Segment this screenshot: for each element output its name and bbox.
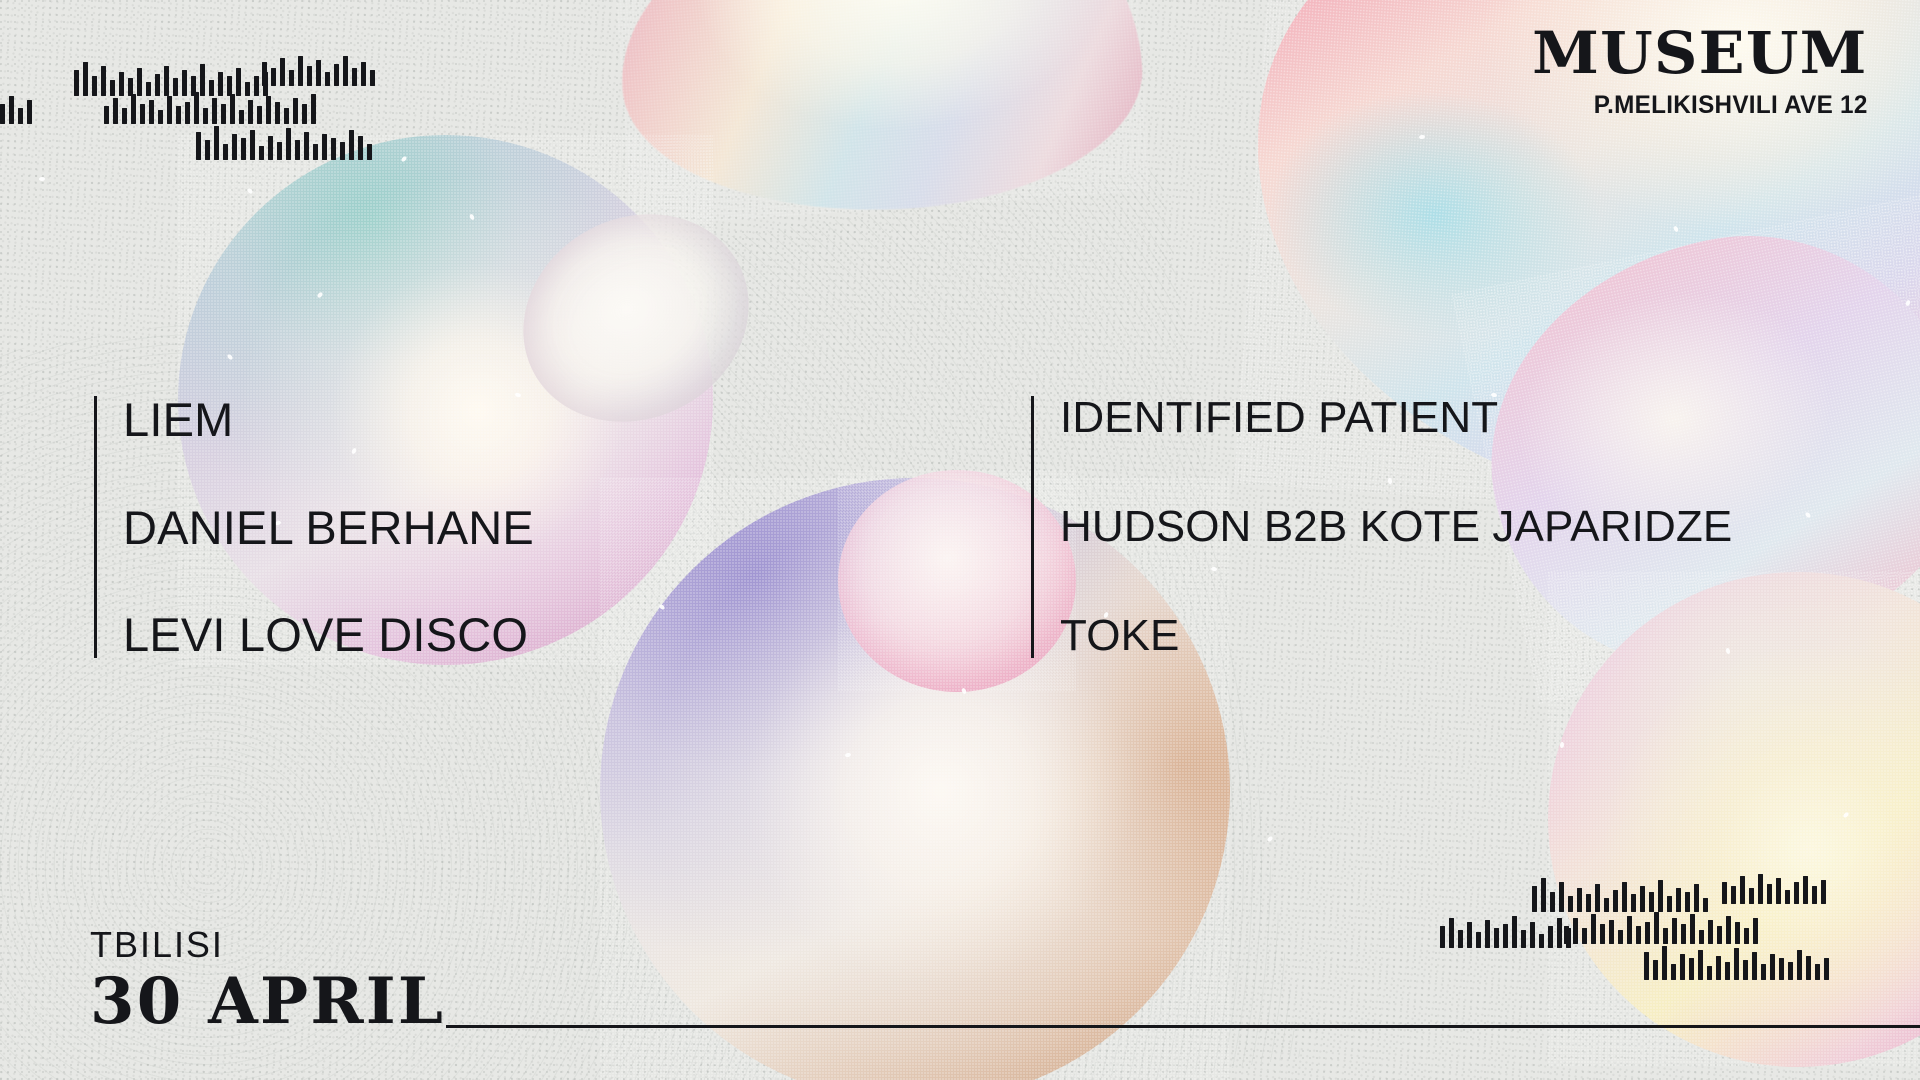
lineup-right-list: IDENTIFIED PATIENT HUDSON B2B KOTE JAPAR…: [1060, 396, 1732, 658]
waveform-bar: [1803, 876, 1808, 904]
waveform-bar: [1767, 884, 1772, 904]
waveform-bar: [1622, 882, 1627, 912]
waveform-bar: [1613, 890, 1618, 912]
speckle: [1560, 742, 1565, 748]
waveform-bar: [1658, 880, 1663, 912]
waveform-bar: [223, 144, 228, 160]
speckle: [247, 187, 254, 194]
waveform-bar: [370, 70, 375, 86]
waveform-bar: [212, 98, 217, 124]
waveform-bar: [1734, 948, 1739, 980]
event-info-block: TBILISI 30 APRIL: [90, 924, 445, 1032]
waveform-bar: [325, 72, 330, 86]
waveform-bar: [232, 134, 237, 160]
waveform-bar: [268, 136, 273, 160]
waveform-bar: [1530, 922, 1535, 948]
waveform-bar: [1591, 914, 1596, 944]
waveform-row: [0, 96, 32, 124]
waveform-bar: [1559, 882, 1564, 912]
speckle: [1266, 835, 1273, 842]
waveform-bar: [113, 98, 118, 124]
speckle: [401, 155, 408, 162]
waveform-bar: [92, 76, 97, 96]
waveform-bar: [1776, 878, 1781, 904]
waveform-bar: [1694, 884, 1699, 912]
event-date: 30 APRIL: [90, 972, 445, 1032]
waveform-bar: [239, 110, 244, 124]
waveform-bar: [185, 102, 190, 124]
waveform-bar: [1681, 924, 1686, 944]
waveform-bar: [1744, 928, 1749, 944]
waveform-bar: [1663, 928, 1668, 944]
venue-name: MUSEUM: [1532, 26, 1868, 82]
waveform-bar: [1573, 918, 1578, 944]
waveform-bar: [1671, 964, 1676, 980]
waveform-bar: [1512, 916, 1517, 948]
waveform-bar: [1761, 964, 1766, 980]
waveform-bar: [1631, 894, 1636, 912]
lineup-left-list: LIEM DANIEL BERHANE LEVI LOVE DISCO: [123, 396, 534, 658]
waveform-bar: [1752, 952, 1757, 980]
lineup-right-column: IDENTIFIED PATIENT HUDSON B2B KOTE JAPAR…: [1031, 396, 1732, 658]
waveform-bar: [1794, 882, 1799, 904]
waveform-bar: [196, 132, 201, 160]
waveform-bar: [352, 68, 357, 86]
waveform-bar: [1717, 926, 1722, 944]
waveform-bar: [266, 96, 271, 124]
waveform-bar: [1690, 914, 1695, 944]
waveform-bar: [1649, 892, 1654, 912]
waveform-bar: [1586, 894, 1591, 912]
waveform-bar: [203, 108, 208, 124]
waveform-bar: [1600, 924, 1605, 944]
waveform-bar: [1707, 966, 1712, 980]
waveform-bar: [1788, 962, 1793, 980]
waveform-bar: [1548, 926, 1553, 948]
venue-block: MUSEUM P.MELIKISHVILI AVE 12: [1545, 26, 1868, 120]
waveform-bar: [221, 104, 226, 124]
waveform-bar: [340, 142, 345, 160]
waveform-row: [1440, 916, 1571, 948]
event-city: TBILISI: [90, 924, 445, 966]
waveform-bar: [230, 94, 235, 124]
waveform-bar: [257, 106, 262, 124]
waveform-bar: [18, 108, 23, 124]
waveform-bar: [302, 104, 307, 124]
waveform-bar: [1722, 882, 1727, 904]
waveform-bar: [1824, 958, 1829, 980]
speckle: [1419, 135, 1425, 140]
waveform-row: [262, 56, 375, 86]
waveform-bar: [1689, 958, 1694, 980]
waveform-bar: [1815, 964, 1820, 980]
waveform-bar: [1758, 874, 1763, 904]
waveform-row: [196, 126, 372, 160]
waveform-row: [104, 92, 316, 124]
waveform-bar: [122, 108, 127, 124]
waveform-bar: [1485, 920, 1490, 948]
waveform-bar: [1564, 926, 1569, 944]
waveform-bar: [1743, 960, 1748, 980]
waveform-bar: [1627, 916, 1632, 944]
bottom-horizontal-rule: [446, 1025, 1920, 1028]
waveform-bar: [349, 130, 354, 160]
waveform-row: [1564, 912, 1758, 944]
waveform-bar: [1716, 956, 1721, 980]
waveform-bar: [1618, 930, 1623, 944]
event-poster: MUSEUM P.MELIKISHVILI AVE 12 LIEM DANIEL…: [0, 0, 1920, 1080]
speckle: [1673, 225, 1679, 232]
artist-name: IDENTIFIED PATIENT: [1060, 396, 1732, 440]
waveform-row: [1532, 878, 1708, 912]
waveform-bar: [343, 56, 348, 86]
waveform-bar: [262, 62, 267, 86]
waveform-bar: [1640, 886, 1645, 912]
waveform-bar: [1645, 922, 1650, 944]
speckle: [469, 213, 475, 220]
waveform-row: [1644, 946, 1829, 980]
lineup-left-column: LIEM DANIEL BERHANE LEVI LOVE DISCO: [94, 396, 534, 658]
waveform-bar: [1550, 892, 1555, 912]
speckle: [227, 353, 234, 360]
waveform-bar: [1577, 888, 1582, 912]
waveform-bar: [1708, 920, 1713, 944]
waveform-bar: [361, 62, 366, 86]
speckle: [961, 687, 967, 694]
waveform-bar: [1467, 922, 1472, 948]
waveform-bar: [1541, 878, 1546, 912]
speckle: [1805, 511, 1812, 518]
waveform-bar: [149, 100, 154, 124]
artist-name: LIEM: [123, 396, 534, 443]
gradient-blob-top: [609, 0, 1151, 228]
waveform-bar: [1821, 880, 1826, 904]
waveform-bar: [1749, 888, 1754, 904]
waveform-bar: [1667, 896, 1672, 912]
waveform-bar: [1582, 928, 1587, 944]
waveform-bar: [1676, 888, 1681, 912]
waveform-bar: [331, 138, 336, 160]
waveform-bar: [74, 70, 79, 96]
waveform-bar: [293, 98, 298, 124]
waveform-bar: [295, 140, 300, 160]
waveform-bar: [176, 106, 181, 124]
waveform-bar: [1449, 918, 1454, 948]
waveform-bar: [1644, 952, 1649, 980]
waveform-row: [74, 62, 268, 96]
artist-name: LEVI LOVE DISCO: [123, 611, 534, 658]
waveform-bar: [1731, 886, 1736, 904]
waveform-bar: [311, 94, 316, 124]
waveform-bar: [1812, 886, 1817, 904]
speckle: [317, 291, 324, 298]
waveform-bar: [271, 68, 276, 86]
speckle: [39, 177, 45, 181]
speckle: [845, 752, 852, 757]
artist-name: HUDSON B2B KOTE JAPARIDZE: [1060, 505, 1732, 549]
waveform-bar: [307, 66, 312, 86]
waveform-bar: [1494, 928, 1499, 948]
audio-waveform-icon-bottom: [1440, 854, 1770, 984]
waveform-bar: [1521, 930, 1526, 948]
waveform-bar: [1662, 946, 1667, 980]
waveform-bar: [322, 134, 327, 160]
venue-address: P.MELIKISHVILI AVE 12: [1555, 91, 1868, 120]
waveform-bar: [0, 104, 5, 124]
artist-name: TOKE: [1060, 614, 1732, 658]
waveform-bar: [1797, 950, 1802, 980]
waveform-bar: [1609, 920, 1614, 944]
lineup-right-vertical-rule: [1031, 396, 1034, 658]
waveform-bar: [1503, 924, 1508, 948]
waveform-bar: [1654, 912, 1659, 944]
waveform-bar: [289, 70, 294, 86]
artist-name: DANIEL BERHANE: [123, 504, 534, 551]
waveform-bar: [158, 110, 163, 124]
waveform-bar: [1806, 956, 1811, 980]
waveform-bar: [1725, 962, 1730, 980]
waveform-bar: [1740, 876, 1745, 904]
waveform-bar: [131, 94, 136, 124]
waveform-bar: [284, 108, 289, 124]
waveform-bar: [1568, 896, 1573, 912]
waveform-bar: [1539, 934, 1544, 948]
audio-waveform-icon-top: [0, 34, 330, 164]
waveform-bar: [367, 144, 372, 160]
waveform-bar: [1458, 930, 1463, 948]
waveform-bar: [140, 104, 145, 124]
waveform-bar: [277, 142, 282, 160]
waveform-bar: [1636, 926, 1641, 944]
waveform-bar: [1699, 930, 1704, 944]
waveform-bar: [248, 100, 253, 124]
waveform-bar: [1532, 886, 1537, 912]
waveform-bar: [1653, 960, 1658, 980]
speckle: [658, 604, 665, 611]
waveform-bar: [1703, 898, 1708, 912]
waveform-bar: [9, 96, 14, 124]
speckle: [1905, 299, 1911, 306]
waveform-bar: [334, 64, 339, 86]
lineup-left-vertical-rule: [94, 396, 97, 658]
waveform-bar: [316, 60, 321, 86]
waveform-bar: [250, 130, 255, 160]
waveform-bar: [27, 100, 32, 124]
waveform-bar: [214, 126, 219, 160]
waveform-bar: [1735, 922, 1740, 944]
waveform-bar: [304, 132, 309, 160]
speckle: [1842, 811, 1849, 818]
waveform-bar: [1726, 916, 1731, 944]
waveform-bar: [275, 102, 280, 124]
waveform-bar: [104, 106, 109, 124]
waveform-bar: [167, 96, 172, 124]
waveform-row: [1722, 874, 1826, 904]
waveform-bar: [1595, 884, 1600, 912]
waveform-bar: [1698, 950, 1703, 980]
waveform-bar: [1557, 918, 1562, 948]
waveform-bar: [1680, 954, 1685, 980]
waveform-bar: [1785, 890, 1790, 904]
waveform-bar: [1440, 926, 1445, 948]
waveform-bar: [259, 146, 264, 160]
waveform-bar: [241, 138, 246, 160]
waveform-bar: [1604, 898, 1609, 912]
waveform-bar: [358, 136, 363, 160]
waveform-bar: [205, 140, 210, 160]
waveform-bar: [1770, 954, 1775, 980]
waveform-bar: [1753, 918, 1758, 944]
waveform-bar: [1685, 892, 1690, 912]
waveform-bar: [313, 144, 318, 160]
waveform-bar: [280, 58, 285, 86]
waveform-bar: [1779, 958, 1784, 980]
waveform-bar: [286, 128, 291, 160]
waveform-bar: [1476, 932, 1481, 948]
waveform-bar: [194, 92, 199, 124]
waveform-bar: [1672, 918, 1677, 944]
waveform-bar: [298, 56, 303, 86]
waveform-bar: [83, 62, 88, 96]
